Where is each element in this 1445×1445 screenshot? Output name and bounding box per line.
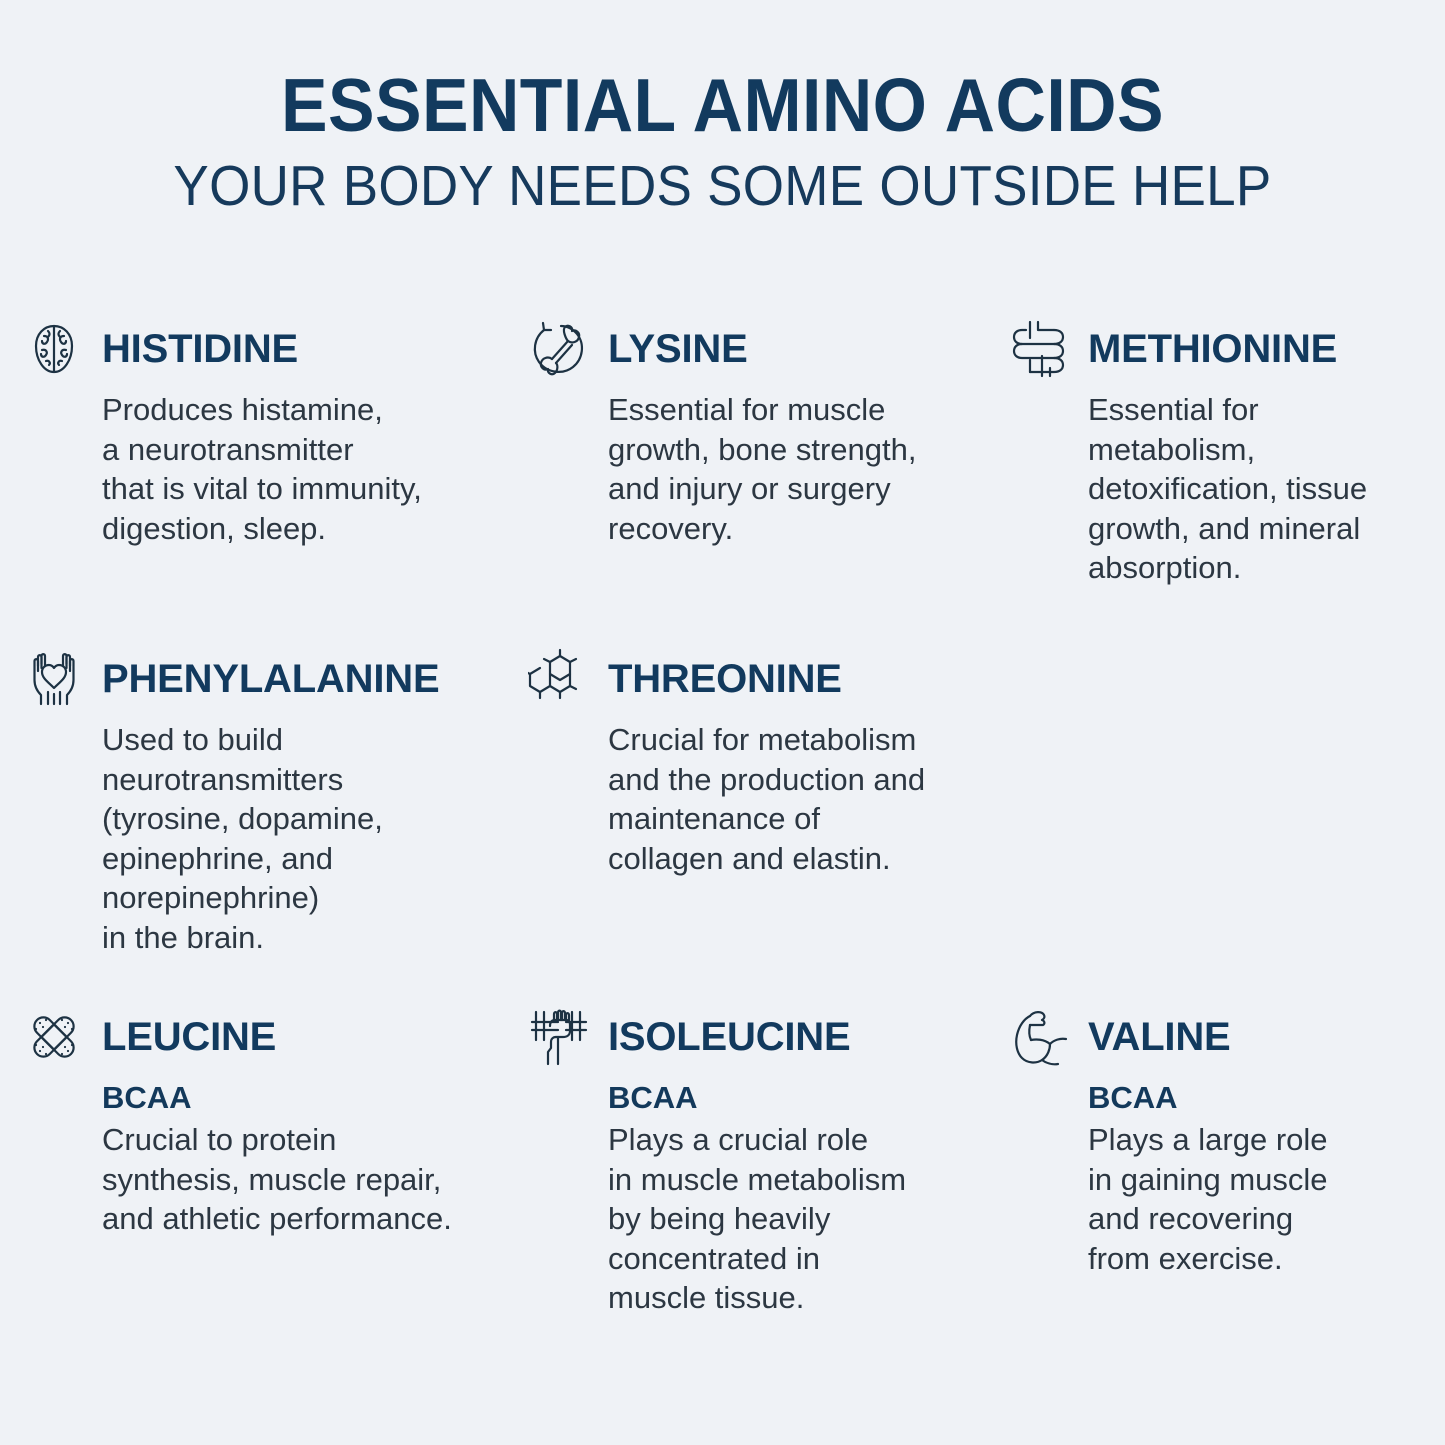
card-body: BCAA Plays a large role in gaining muscl…	[1008, 1078, 1428, 1278]
card-header: VALINE	[1008, 1006, 1428, 1068]
card-body: Essential for muscle growth, bone streng…	[528, 390, 998, 548]
card-title: THREONINE	[608, 657, 842, 701]
card-title: ISOLEUCINE	[608, 1015, 850, 1059]
card-title: HISTIDINE	[102, 327, 298, 371]
card-header: METHIONINE	[1008, 318, 1428, 380]
card-header: HISTIDINE	[22, 318, 512, 380]
fist-barbell-icon	[528, 1006, 592, 1068]
card-body: Produces histamine, a neurotransmitter t…	[22, 390, 512, 548]
card-header: THREONINE	[528, 648, 998, 710]
amino-acid-card-isoleucine: ISOLEUCINE BCAA Plays a crucial role in …	[528, 1006, 998, 1318]
brain-icon	[22, 318, 86, 380]
card-description: Plays a crucial role in muscle metabolis…	[608, 1120, 998, 1318]
card-header: ISOLEUCINE	[528, 1006, 998, 1068]
amino-acid-card-valine: VALINE BCAA Plays a large role in gainin…	[1008, 1006, 1428, 1278]
card-title: PHENYLALANINE	[102, 657, 439, 701]
flexed-bicep-icon	[1008, 1006, 1072, 1068]
amino-acid-card-methionine: METHIONINE Essential for metabolism, det…	[1008, 318, 1428, 588]
card-body: Essential for metabolism, detoxification…	[1008, 390, 1428, 588]
amino-acid-card-lysine: LYSINE Essential for muscle growth, bone…	[528, 318, 998, 548]
card-header: LEUCINE	[22, 1006, 512, 1068]
card-title: LEUCINE	[102, 1015, 276, 1059]
hands-heart-icon	[22, 648, 86, 710]
amino-acid-card-leucine: LEUCINE BCAA Crucial to protein synthesi…	[22, 1006, 512, 1239]
card-description: Crucial for metabolism and the productio…	[608, 720, 998, 878]
card-description: Essential for metabolism, detoxification…	[1088, 390, 1428, 588]
bcaa-label: BCAA	[102, 1078, 512, 1118]
page-subtitle: YOUR BODY NEEDS SOME OUTSIDE HELP	[51, 154, 1395, 218]
page-title: ESSENTIAL AMINO ACIDS	[51, 62, 1395, 148]
amino-acid-card-histidine: HISTIDINE Produces histamine, a neurotra…	[22, 318, 512, 548]
amino-acid-card-phenylalanine: PHENYLALANINE Used to build neurotransmi…	[22, 648, 512, 957]
amino-acid-row: LEUCINE BCAA Crucial to protein synthesi…	[0, 1006, 1445, 1346]
card-title: METHIONINE	[1088, 327, 1337, 371]
card-description: Plays a large role in gaining muscle and…	[1088, 1120, 1428, 1278]
card-description: Used to build neurotransmitters (tyrosin…	[102, 720, 512, 957]
bcaa-label: BCAA	[608, 1078, 998, 1118]
card-body: BCAA Plays a crucial role in muscle meta…	[528, 1078, 998, 1318]
molecule-icon	[528, 648, 592, 710]
amino-acid-grid: HISTIDINE Produces histamine, a neurotra…	[0, 318, 1445, 1346]
card-description: Essential for muscle growth, bone streng…	[608, 390, 998, 548]
card-body: Crucial for metabolism and the productio…	[528, 720, 998, 878]
card-body: Used to build neurotransmitters (tyrosin…	[22, 720, 512, 957]
infographic-page: ESSENTIAL AMINO ACIDS YOUR BODY NEEDS SO…	[0, 0, 1445, 1445]
card-body: BCAA Crucial to protein synthesis, muscl…	[22, 1078, 512, 1239]
intestine-icon	[1008, 318, 1072, 380]
bcaa-label: BCAA	[1088, 1078, 1428, 1118]
amino-acid-card-threonine: THREONINE Crucial for metabolism and the…	[528, 648, 998, 878]
card-title: VALINE	[1088, 1015, 1231, 1059]
bandage-cross-icon	[22, 1006, 86, 1068]
card-description: Produces histamine, a neurotransmitter t…	[102, 390, 512, 548]
card-header: PHENYLALANINE	[22, 648, 512, 710]
card-description: Crucial to protein synthesis, muscle rep…	[102, 1120, 512, 1239]
bone-recovery-icon	[528, 318, 592, 380]
amino-acid-row: HISTIDINE Produces histamine, a neurotra…	[0, 318, 1445, 648]
card-title: LYSINE	[608, 327, 748, 371]
card-header: LYSINE	[528, 318, 998, 380]
amino-acid-row: PHENYLALANINE Used to build neurotransmi…	[0, 648, 1445, 1006]
header: ESSENTIAL AMINO ACIDS YOUR BODY NEEDS SO…	[0, 0, 1445, 218]
